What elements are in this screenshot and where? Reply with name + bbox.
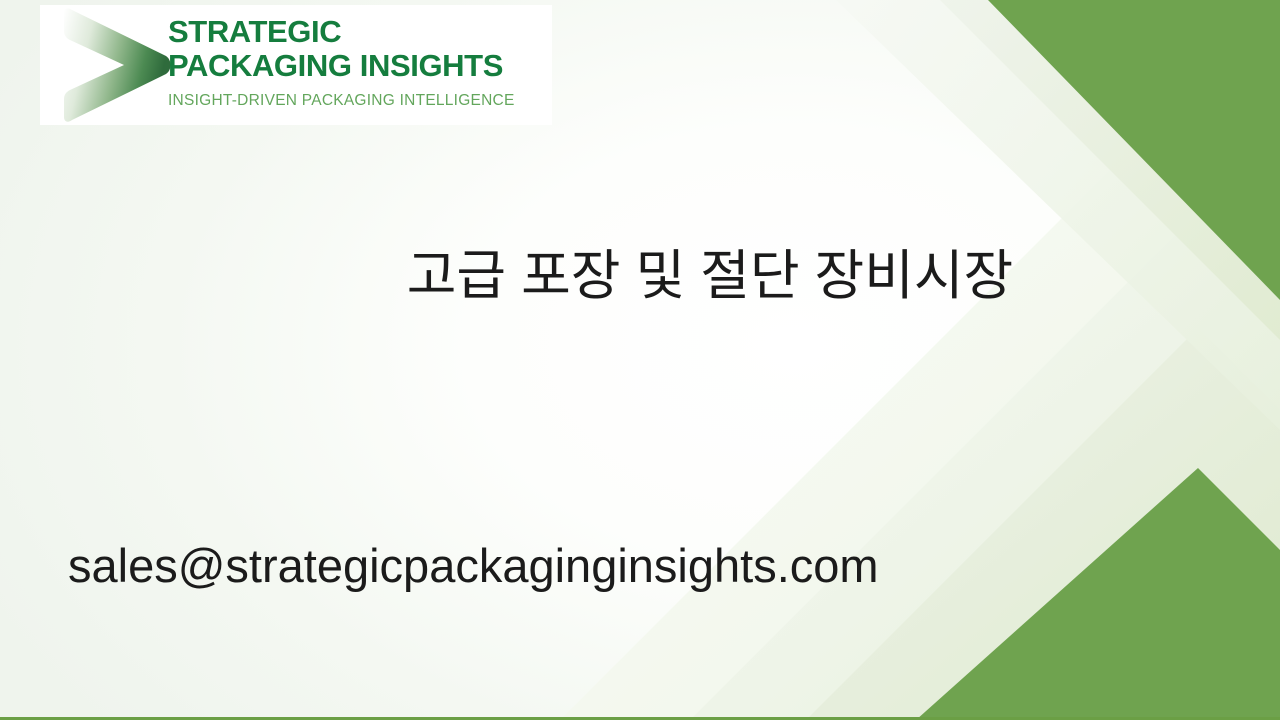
- chevron-arrow-mark-icon: [48, 7, 173, 123]
- page-title: 고급 포장 및 절단 장비시장: [160, 243, 1260, 309]
- brand-tagline: INSIGHT-DRIVEN PACKAGING INTELLIGENCE: [168, 92, 552, 110]
- brand-logo-text: STRATEGIC PACKAGING INSIGHTS INSIGHT-DRI…: [168, 15, 552, 110]
- brand-name-line-2: PACKAGING INSIGHTS: [168, 49, 552, 83]
- slide-canvas: STRATEGIC PACKAGING INSIGHTS INSIGHT-DRI…: [0, 0, 1280, 720]
- contact-email[interactable]: sales@strategicpackaginginsights.com: [68, 537, 879, 595]
- brand-logo: STRATEGIC PACKAGING INSIGHTS INSIGHT-DRI…: [40, 5, 552, 125]
- brand-name-line-1: STRATEGIC: [168, 15, 552, 49]
